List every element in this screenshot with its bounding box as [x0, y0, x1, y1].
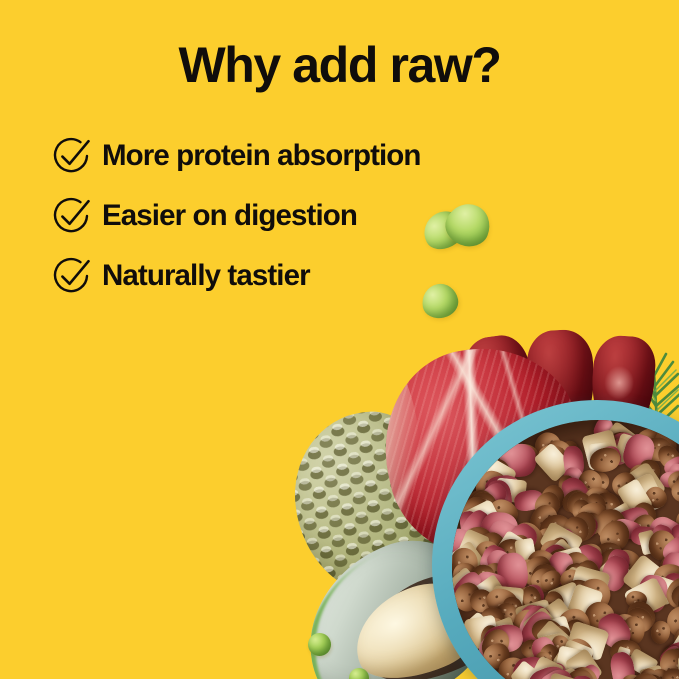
- kibble-piece: [484, 615, 510, 641]
- kibble-piece: [641, 482, 670, 511]
- freeze-dried-piece: [464, 614, 500, 650]
- kibble-piece: [672, 585, 679, 621]
- kibble-piece: [584, 492, 608, 521]
- raw-meat-piece: [477, 542, 510, 578]
- raw-meat-piece: [516, 607, 556, 650]
- raw-meat-piece: [606, 434, 641, 462]
- freeze-dried-piece: [539, 520, 584, 561]
- raw-meat-piece: [567, 541, 607, 583]
- freeze-dried-piece: [535, 619, 571, 654]
- list-item-label: Easier on digestion: [102, 199, 357, 233]
- freeze-dried-piece: [598, 554, 633, 589]
- kibble-piece: [597, 548, 629, 577]
- kibble-piece: [534, 525, 562, 551]
- kibble-piece: [556, 547, 595, 587]
- kibble-piece: [559, 634, 598, 673]
- freeze-dried-piece: [613, 432, 647, 466]
- kibble-piece: [484, 586, 521, 618]
- raw-meat-piece: [605, 548, 631, 579]
- kibble-piece: [624, 509, 661, 548]
- raw-meat-piece: [492, 551, 536, 590]
- freeze-dried-piece: [626, 648, 659, 679]
- kibble-piece: [596, 541, 622, 562]
- kibble-piece: [527, 564, 560, 597]
- kibble-piece: [526, 501, 562, 540]
- freeze-dried-piece: [603, 421, 647, 462]
- liver-chunk: [459, 332, 538, 440]
- kibble-piece: [516, 551, 556, 592]
- kibble-piece: [669, 475, 679, 505]
- kibble-piece: [575, 558, 601, 587]
- raw-meat-piece: [661, 552, 679, 587]
- raw-meat-piece: [593, 608, 635, 652]
- freeze-dried-piece: [621, 554, 667, 600]
- list-item: More protein absorption: [50, 126, 610, 186]
- kibble-piece: [470, 536, 507, 572]
- raw-meat-piece: [512, 601, 550, 640]
- raw-meat-piece: [572, 511, 601, 541]
- freeze-dried-piece: [492, 585, 524, 614]
- kibble-piece: [577, 577, 612, 613]
- freeze-dried-piece: [554, 645, 587, 676]
- raw-meat-piece: [631, 527, 659, 547]
- kibble-piece: [544, 546, 581, 581]
- freeze-dried-piece: [618, 461, 667, 510]
- freeze-dried-piece: [646, 574, 678, 605]
- raw-meat-piece: [500, 519, 542, 562]
- kibble-piece: [520, 584, 544, 612]
- kibble-piece: [584, 469, 613, 497]
- raw-meat-piece: [481, 621, 525, 657]
- kibble-piece: [623, 616, 646, 644]
- pea: [308, 633, 331, 656]
- kibble-piece: [544, 591, 565, 617]
- raw-steak: [366, 330, 601, 576]
- raw-meat-piece: [620, 431, 657, 473]
- raw-meat-piece: [610, 503, 653, 540]
- kibble-piece: [625, 590, 648, 609]
- freeze-dried-piece: [639, 664, 666, 679]
- raw-meat-piece: [482, 544, 527, 588]
- raw-meat-piece: [599, 548, 620, 573]
- list-item-label: More protein absorption: [102, 139, 421, 173]
- kibble-piece: [609, 638, 643, 666]
- raw-meat-piece: [659, 569, 679, 601]
- kibble-piece: [472, 528, 511, 569]
- kibble-piece: [476, 624, 515, 665]
- raw-meat-piece: [480, 511, 519, 551]
- kibble-piece: [658, 663, 679, 679]
- raw-meat-piece: [563, 445, 586, 479]
- kibble-piece: [495, 443, 528, 474]
- list-item: Easier on digestion: [50, 186, 610, 246]
- kibble-piece: [663, 643, 679, 679]
- liver-chunk: [525, 328, 596, 435]
- kibble-piece: [466, 488, 500, 522]
- kibble-piece: [584, 581, 614, 609]
- kibble-piece: [585, 428, 623, 468]
- freeze-dried-piece: [617, 478, 654, 518]
- raw-meat-piece: [475, 626, 511, 662]
- kibble-piece: [636, 457, 662, 484]
- raw-meat-piece: [495, 551, 530, 593]
- raw-meat-piece: [526, 559, 552, 581]
- freeze-dried-piece: [552, 645, 586, 677]
- kibble-piece: [563, 663, 602, 679]
- kibble-piece: [537, 482, 568, 515]
- kibble-piece: [563, 560, 588, 582]
- raw-meat-piece: [514, 581, 547, 613]
- freeze-dried-piece: [623, 576, 669, 619]
- freeze-dried-piece: [638, 529, 658, 555]
- kibble-piece: [564, 490, 593, 519]
- freeze-dried-piece: [608, 502, 631, 523]
- kibble-piece: [649, 619, 671, 645]
- kibble-piece: [622, 666, 668, 679]
- freeze-dried-piece: [521, 606, 562, 648]
- raw-meat-piece: [452, 523, 485, 572]
- raw-meat-piece: [599, 427, 643, 470]
- kibble-piece: [557, 664, 599, 679]
- freeze-dried-piece: [547, 581, 583, 613]
- freeze-dried-piece: [568, 565, 611, 608]
- kibble-piece: [530, 487, 564, 523]
- freeze-dried-piece: [668, 630, 679, 662]
- kibble-piece: [622, 434, 652, 457]
- food-photo-composite: [0, 0, 679, 679]
- kibble-piece: [461, 485, 499, 523]
- kibble-piece: [572, 500, 591, 521]
- kibble-piece: [561, 515, 590, 545]
- kibble-piece: [552, 603, 597, 648]
- kibble-piece: [484, 496, 521, 531]
- raw-meat-piece: [645, 512, 679, 553]
- raw-meat-piece: [454, 506, 494, 552]
- kibble-piece: [573, 498, 612, 534]
- kibble-piece: [659, 642, 679, 670]
- freeze-dried-piece: [552, 546, 588, 584]
- kibble-piece: [577, 540, 606, 569]
- kibble-piece: [673, 625, 679, 653]
- kibble-piece: [606, 423, 636, 454]
- kibble-piece: [536, 566, 565, 594]
- kibble-piece: [452, 560, 479, 589]
- kibble-piece: [609, 609, 645, 643]
- raw-meat-piece: [668, 463, 679, 484]
- raw-meat-piece: [540, 540, 575, 577]
- kibble-piece: [653, 430, 678, 462]
- raw-meat-piece: [484, 473, 521, 502]
- food-bowl-contents: [452, 420, 679, 679]
- freeze-dried-piece: [460, 498, 507, 546]
- freeze-dried-piece: [614, 646, 631, 668]
- kibble-piece: [516, 555, 544, 582]
- kibble-piece: [628, 500, 659, 534]
- kibble-piece: [664, 467, 679, 496]
- kibble-piece: [492, 652, 533, 679]
- kibble-piece: [657, 554, 679, 582]
- kibble-piece: [537, 444, 568, 469]
- raw-meat-piece: [593, 443, 624, 472]
- kibble-piece: [533, 650, 555, 676]
- kibble-piece: [557, 566, 590, 598]
- raw-meat-piece: [476, 569, 510, 594]
- advertisement-canvas: Why add raw? More protein absorption Eas…: [0, 0, 679, 679]
- kibble-piece: [494, 537, 528, 569]
- kibble-piece: [499, 592, 526, 620]
- kibble-piece: [536, 511, 575, 547]
- freeze-dried-piece: [581, 429, 621, 471]
- kibble-piece: [519, 638, 543, 660]
- freeze-dried-piece: [533, 442, 573, 483]
- freeze-dried-piece: [559, 566, 586, 593]
- kibble-piece: [558, 486, 590, 517]
- kibble-piece: [664, 582, 679, 605]
- kibble-piece: [543, 439, 573, 470]
- kibble-piece: [569, 509, 599, 543]
- kibble-piece: [609, 547, 643, 579]
- raw-meat-piece: [611, 517, 644, 543]
- kibble-piece: [607, 468, 641, 502]
- freeze-dried-piece: [453, 528, 490, 571]
- kibble-piece: [629, 423, 668, 462]
- mussel-meat: [341, 566, 496, 679]
- raw-meat-piece: [510, 654, 550, 679]
- raw-meat-piece: [659, 532, 679, 567]
- kibble-piece: [658, 649, 679, 679]
- raw-meat-piece: [573, 625, 610, 657]
- page-title: Why add raw?: [0, 38, 679, 92]
- kibble-piece: [648, 529, 677, 561]
- freeze-dried-piece: [514, 538, 538, 570]
- raw-meat-piece: [484, 516, 532, 560]
- kibble-piece: [654, 442, 679, 474]
- kibble-piece: [529, 616, 564, 646]
- benefits-list: More protein absorption Easier on digest…: [50, 126, 610, 306]
- kibble-piece: [528, 560, 562, 594]
- raw-meat-piece: [476, 480, 511, 514]
- freeze-dried-piece: [494, 477, 526, 503]
- kibble-piece: [469, 505, 502, 539]
- raw-meat-piece: [512, 488, 545, 513]
- freeze-dried-piece: [537, 633, 565, 658]
- freeze-dried-piece: [543, 597, 579, 636]
- kibble-piece: [486, 497, 518, 527]
- kibble-piece: [545, 622, 574, 651]
- raw-meat-piece: [591, 420, 616, 442]
- freeze-dried-piece: [543, 672, 585, 679]
- raw-meat-piece: [540, 674, 563, 679]
- kibble-piece: [473, 468, 512, 507]
- raw-meat-piece: [659, 469, 679, 490]
- raw-meat-piece: [663, 639, 679, 668]
- check-circle-icon: [50, 195, 92, 237]
- kibble-piece: [622, 596, 661, 636]
- freeze-dried-piece: [619, 472, 667, 520]
- kibble-piece: [589, 487, 626, 525]
- kibble-piece: [587, 445, 622, 476]
- kibble-piece: [566, 580, 590, 599]
- raw-meat-piece: [459, 510, 482, 542]
- raw-meat-piece: [671, 450, 679, 490]
- freeze-dried-piece: [452, 540, 485, 578]
- check-circle-icon: [50, 255, 92, 297]
- food-bowl-rim: [432, 400, 679, 679]
- raw-meat-piece: [561, 665, 598, 679]
- kibble-piece: [548, 633, 573, 660]
- kibble-piece: [480, 625, 501, 651]
- kibble-piece: [508, 604, 546, 642]
- raw-meat-piece: [570, 675, 596, 679]
- kibble-piece: [674, 469, 679, 496]
- kibble-piece: [537, 666, 575, 679]
- raw-meat-piece: [526, 662, 569, 679]
- kibble-piece: [577, 509, 607, 539]
- raw-meat-piece: [542, 524, 579, 557]
- freeze-dried-piece: [524, 654, 565, 679]
- kibble-piece: [649, 560, 679, 599]
- kibble-piece: [596, 508, 627, 541]
- raw-meat-piece: [574, 662, 603, 679]
- kibble-piece: [559, 439, 581, 465]
- check-circle-icon: [50, 135, 92, 177]
- raw-meat-piece: [657, 643, 679, 671]
- kibble-piece: [500, 525, 531, 550]
- kibble-piece: [671, 583, 679, 610]
- kibble-piece: [642, 436, 672, 461]
- kibble-piece: [508, 517, 550, 559]
- raw-meat-piece: [561, 467, 583, 495]
- kibble-piece: [478, 606, 505, 633]
- kibble-piece: [538, 538, 571, 567]
- freeze-dried-piece: [495, 529, 535, 567]
- kibble-piece: [477, 455, 513, 491]
- raw-meat-piece: [668, 521, 679, 550]
- kibble-piece: [465, 585, 497, 617]
- pea: [349, 668, 369, 679]
- kibble-piece: [452, 579, 485, 615]
- kibble-piece: [663, 574, 679, 613]
- kibble-piece: [581, 484, 615, 517]
- raw-meat-piece: [452, 568, 485, 604]
- green-tripe: [285, 404, 456, 606]
- kibble-piece: [556, 473, 579, 500]
- liver-chunk: [589, 334, 658, 436]
- raw-meat-piece: [608, 650, 637, 679]
- raw-meat-piece: [557, 473, 597, 517]
- raw-meat-piece: [648, 522, 674, 551]
- kibble-piece: [469, 563, 496, 589]
- raw-meat-piece: [598, 553, 632, 594]
- kibble-piece: [496, 515, 521, 541]
- kibble-piece: [533, 431, 562, 463]
- kibble-piece: [460, 496, 492, 530]
- kibble-piece: [485, 645, 511, 668]
- freeze-dried-piece: [494, 616, 518, 641]
- freeze-dried-piece: [452, 566, 479, 600]
- kibble-piece: [509, 444, 539, 468]
- kibble-piece: [641, 671, 668, 679]
- raw-meat-piece: [499, 443, 537, 479]
- kibble-piece: [506, 533, 530, 555]
- freeze-dried-piece: [472, 454, 518, 499]
- freeze-dried-piece: [543, 538, 575, 569]
- kibble-piece: [622, 602, 658, 637]
- kibble-piece: [617, 671, 648, 679]
- kibble-piece: [645, 666, 672, 679]
- kibble-piece: [594, 515, 635, 557]
- kibble-piece: [525, 550, 557, 583]
- kibble-piece: [555, 647, 581, 672]
- kibble-piece: [673, 554, 679, 578]
- kibble-piece: [478, 638, 513, 673]
- kibble-piece: [636, 666, 660, 679]
- freeze-dried-piece: [471, 573, 503, 603]
- freeze-dried-piece: [544, 615, 573, 645]
- freeze-dried-piece: [565, 620, 610, 661]
- kibble-piece: [481, 559, 508, 586]
- raw-meat-piece: [662, 453, 679, 479]
- raw-meat-piece: [485, 479, 515, 516]
- rosemary-sprig-icon: [628, 330, 679, 440]
- kibble-piece: [514, 584, 541, 612]
- list-item: Naturally tastier: [50, 246, 610, 306]
- kibble-piece: [562, 616, 590, 642]
- freeze-dried-piece: [564, 648, 603, 679]
- raw-meat-piece: [534, 664, 581, 679]
- kibble-piece: [517, 603, 546, 633]
- kibble-piece: [491, 598, 521, 628]
- kibble-piece: [547, 535, 572, 561]
- kibble-piece: [581, 599, 618, 637]
- freeze-dried-piece: [565, 584, 604, 628]
- kibble-piece: [540, 601, 563, 621]
- kibble-piece: [536, 642, 560, 668]
- raw-meat-piece: [546, 551, 575, 587]
- kibble-piece: [607, 432, 635, 454]
- freeze-dried-piece: [589, 442, 612, 463]
- freeze-dried-piece: [510, 660, 543, 679]
- green-lipped-mussel-shell: [279, 516, 514, 679]
- raw-meat-piece: [528, 633, 561, 669]
- kibble-piece: [577, 470, 603, 499]
- raw-meat-piece: [637, 574, 669, 613]
- freeze-dried-piece: [548, 667, 584, 679]
- kibble-piece: [484, 483, 509, 506]
- raw-meat-piece: [515, 601, 556, 646]
- freeze-dried-piece: [514, 599, 553, 631]
- kibble-piece: [624, 458, 664, 497]
- freeze-dried-piece: [557, 639, 594, 676]
- freeze-dried-piece: [460, 611, 499, 650]
- kibble-piece: [454, 520, 500, 566]
- kibble-piece: [673, 505, 679, 539]
- raw-meat-piece: [534, 659, 570, 679]
- kibble-piece: [661, 600, 679, 643]
- list-item-label: Naturally tastier: [102, 259, 310, 293]
- kibble-piece: [452, 546, 480, 580]
